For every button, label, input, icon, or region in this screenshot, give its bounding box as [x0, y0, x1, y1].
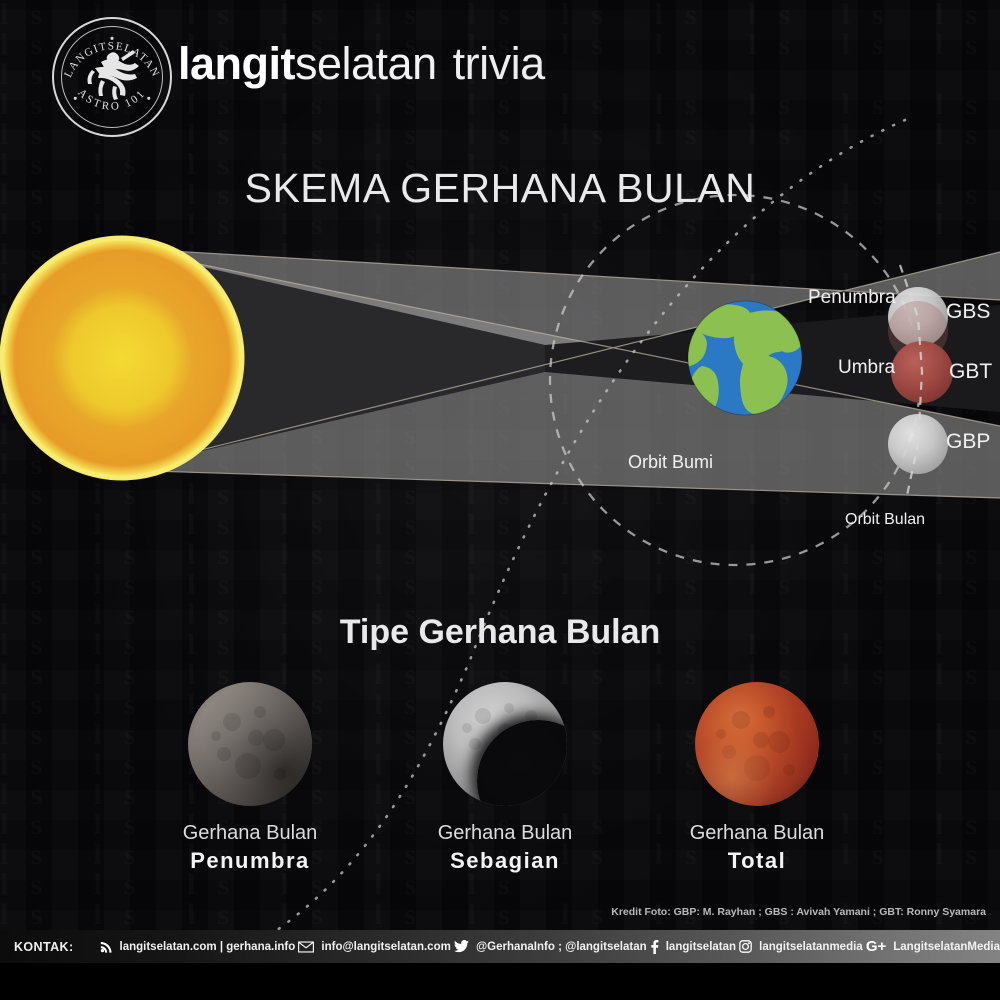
contact-footer: KONTAK: langitselatan.com | gerhana.info… — [0, 930, 1000, 963]
wordmark: langitselatantrivia — [178, 38, 545, 90]
moon-type-caption: Gerhana Bulan Total — [632, 820, 882, 874]
wordmark-suffix: trivia — [453, 38, 545, 89]
section-title: Tipe Gerhana Bulan — [0, 613, 1000, 652]
footer-item-twitter[interactable]: @GerhanaInfo ; @langitselatan — [454, 940, 647, 953]
moon-type-line2: Penumbra — [125, 848, 375, 874]
moon-type-line2: Sebagian — [380, 848, 630, 874]
total-eclipse-moon-icon — [695, 682, 819, 806]
wordmark-light: selatan — [295, 38, 437, 89]
footer-item-facebook[interactable]: langitselatan — [650, 940, 736, 954]
footer-item-website[interactable]: langitselatan.com | gerhana.info — [100, 940, 296, 953]
label-gbp: GBP — [946, 430, 990, 454]
facebook-icon — [650, 940, 659, 954]
footer-item-email[interactable]: info@langitselatan.com — [298, 941, 450, 953]
moon-type-caption: Gerhana Bulan Sebagian — [380, 820, 630, 874]
instagram-icon — [739, 940, 752, 953]
envelope-icon — [298, 941, 314, 953]
footer-item-instagram[interactable]: langitselatanmedia — [739, 940, 863, 953]
photo-credit: Kredit Foto: GBP: M. Rayhan ; GBS : Aviv… — [611, 906, 986, 918]
label-umbra: Umbra — [838, 357, 895, 379]
label-gbs: GBS — [946, 300, 990, 324]
moon-type-card: Gerhana Bulan Penumbra — [125, 682, 375, 874]
twitter-icon — [454, 940, 469, 953]
moon-type-line2: Total — [632, 848, 882, 874]
footer-item-text: info@langitselatan.com — [321, 941, 450, 953]
partial-eclipse-moon-icon — [443, 682, 567, 806]
footer-item-googleplus[interactable]: G+ LangitselatanMedia — [866, 938, 1000, 955]
googleplus-icon: G+ — [866, 938, 886, 955]
footer-item-text: langitselatanmedia — [759, 941, 863, 953]
footer-item-text: langitselatan.com | gerhana.info — [120, 941, 296, 953]
centaur-horse-icon — [81, 48, 143, 106]
sun-body — [0, 236, 244, 480]
moon-type-caption: Gerhana Bulan Penumbra — [125, 820, 375, 874]
footer-item-text: @GerhanaInfo ; @langitselatan — [476, 941, 647, 953]
footer-item-text: LangitselatanMedia — [893, 941, 1000, 953]
label-orbit-bulan: Orbit Bulan — [845, 511, 925, 529]
poster-header: LANGITSELATAN ASTRO 101 — [0, 0, 1000, 140]
moon-type-line1: Gerhana Bulan — [690, 822, 825, 844]
label-orbit-bumi: Orbit Bumi — [628, 452, 713, 473]
moon-type-line1: Gerhana Bulan — [183, 822, 318, 844]
moon-type-card: Gerhana Bulan Sebagian — [380, 682, 630, 874]
crater-texture — [188, 682, 312, 806]
footer-kontak-label: KONTAK: — [14, 940, 74, 954]
limb-glow-overlay — [695, 682, 819, 806]
rss-icon — [100, 940, 113, 953]
moon-type-line1: Gerhana Bulan — [438, 822, 573, 844]
label-gbt: GBT — [949, 360, 992, 384]
label-penumbra: Penumbra — [808, 287, 896, 309]
moon-type-card: Gerhana Bulan Total — [632, 682, 882, 874]
page-title: SKEMA GERHANA BULAN — [0, 165, 1000, 212]
infographic-poster: ls ls ls ls ls ls ls ls ls ls ls ls ls l… — [0, 0, 1000, 1000]
wordmark-bold: langit — [178, 38, 295, 89]
footer-item-text: langitselatan — [666, 941, 736, 953]
penumbral-eclipse-moon-icon — [188, 682, 312, 806]
langitselatan-logo: LANGITSELATAN ASTRO 101 — [52, 17, 172, 137]
footer-underbar — [0, 963, 1000, 1000]
